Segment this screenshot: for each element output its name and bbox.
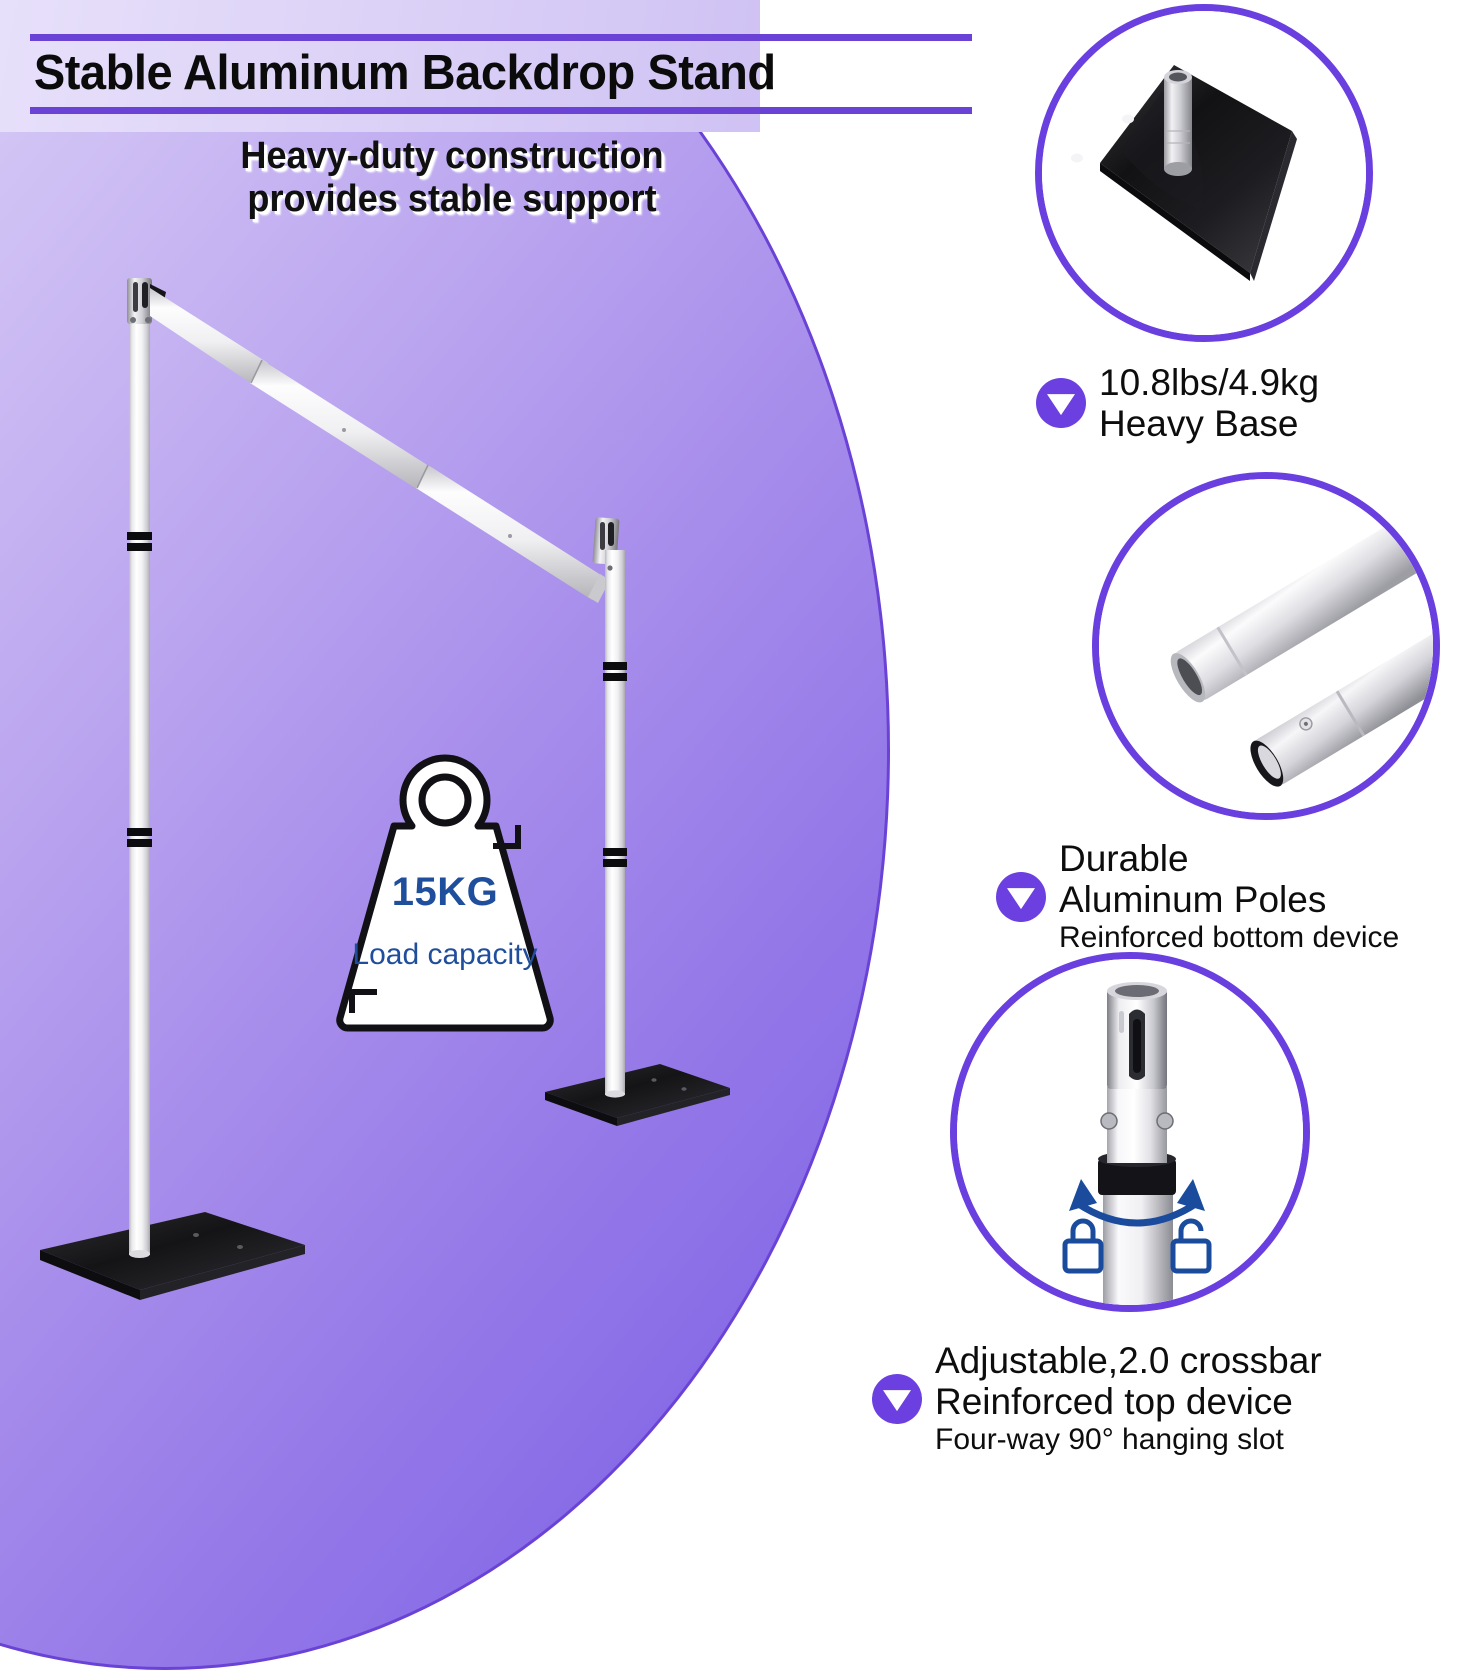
triangle-down-icon xyxy=(872,1374,922,1424)
page-subtitle: Heavy-duty construction provides stable … xyxy=(148,135,756,220)
triangle-down-icon xyxy=(1036,378,1086,428)
feature-photo-aluminum-poles xyxy=(1092,472,1440,820)
right-pole-collar-lower xyxy=(603,848,627,856)
subtitle-line-2: provides stable support xyxy=(148,178,756,221)
callout-adjustable-crossbar-text: Adjustable,2.0 crossbar Reinforced top d… xyxy=(935,1340,1322,1457)
load-capacity-badge: 15KG Load capacity xyxy=(300,748,590,1038)
callout-adjustable-crossbar: Adjustable,2.0 crossbar Reinforced top d… xyxy=(872,1340,1322,1457)
callout-line-2: Reinforced top device xyxy=(935,1381,1293,1422)
subtitle-line-1: Heavy-duty construction xyxy=(148,135,756,178)
callout-line-2: Aluminum Poles xyxy=(1059,879,1326,920)
right-pole-collar-upper xyxy=(603,662,627,670)
callout-line-1: Adjustable,2.0 crossbar xyxy=(935,1340,1322,1381)
left-pole-collar-upper xyxy=(127,532,152,540)
callout-line-3: Reinforced bottom device xyxy=(1059,921,1399,954)
aluminum-poles-photo xyxy=(1099,479,1440,820)
feature-photo-heavy-base xyxy=(1035,4,1373,342)
right-base-plate xyxy=(545,1064,730,1126)
callout-line-2: Heavy Base xyxy=(1099,403,1299,444)
twist-lock-pole-photo xyxy=(957,959,1310,1312)
base-plate-photo xyxy=(1042,11,1373,342)
feature-photo-adjustable-crossbar xyxy=(950,952,1310,1312)
callout-line-3: Four-way 90° hanging slot xyxy=(935,1423,1284,1456)
stand-crossbar xyxy=(150,288,620,603)
callout-heavy-base-text: 10.8lbs/4.9kg Heavy Base xyxy=(1099,362,1319,445)
load-capacity-value: 15KG xyxy=(300,870,590,915)
callout-aluminum-poles: Durable Aluminum Poles Reinforced bottom… xyxy=(996,838,1399,955)
title-rule-bottom xyxy=(30,107,972,114)
callout-line-1: Durable xyxy=(1059,838,1189,879)
triangle-down-icon xyxy=(996,872,1046,922)
stand-left-pole xyxy=(40,278,305,1300)
callout-heavy-base: 10.8lbs/4.9kg Heavy Base xyxy=(1036,362,1319,445)
left-base-plate xyxy=(40,1212,305,1300)
load-capacity-label: Load capacity xyxy=(300,938,590,972)
callout-aluminum-poles-text: Durable Aluminum Poles Reinforced bottom… xyxy=(1059,838,1399,955)
left-pole-collar-lower xyxy=(127,828,152,836)
callout-line-1: 10.8lbs/4.9kg xyxy=(1099,362,1319,403)
title-rule-top xyxy=(30,34,972,41)
title-block: Stable Aluminum Backdrop Stand xyxy=(30,34,972,114)
page-title: Stable Aluminum Backdrop Stand xyxy=(30,41,934,107)
